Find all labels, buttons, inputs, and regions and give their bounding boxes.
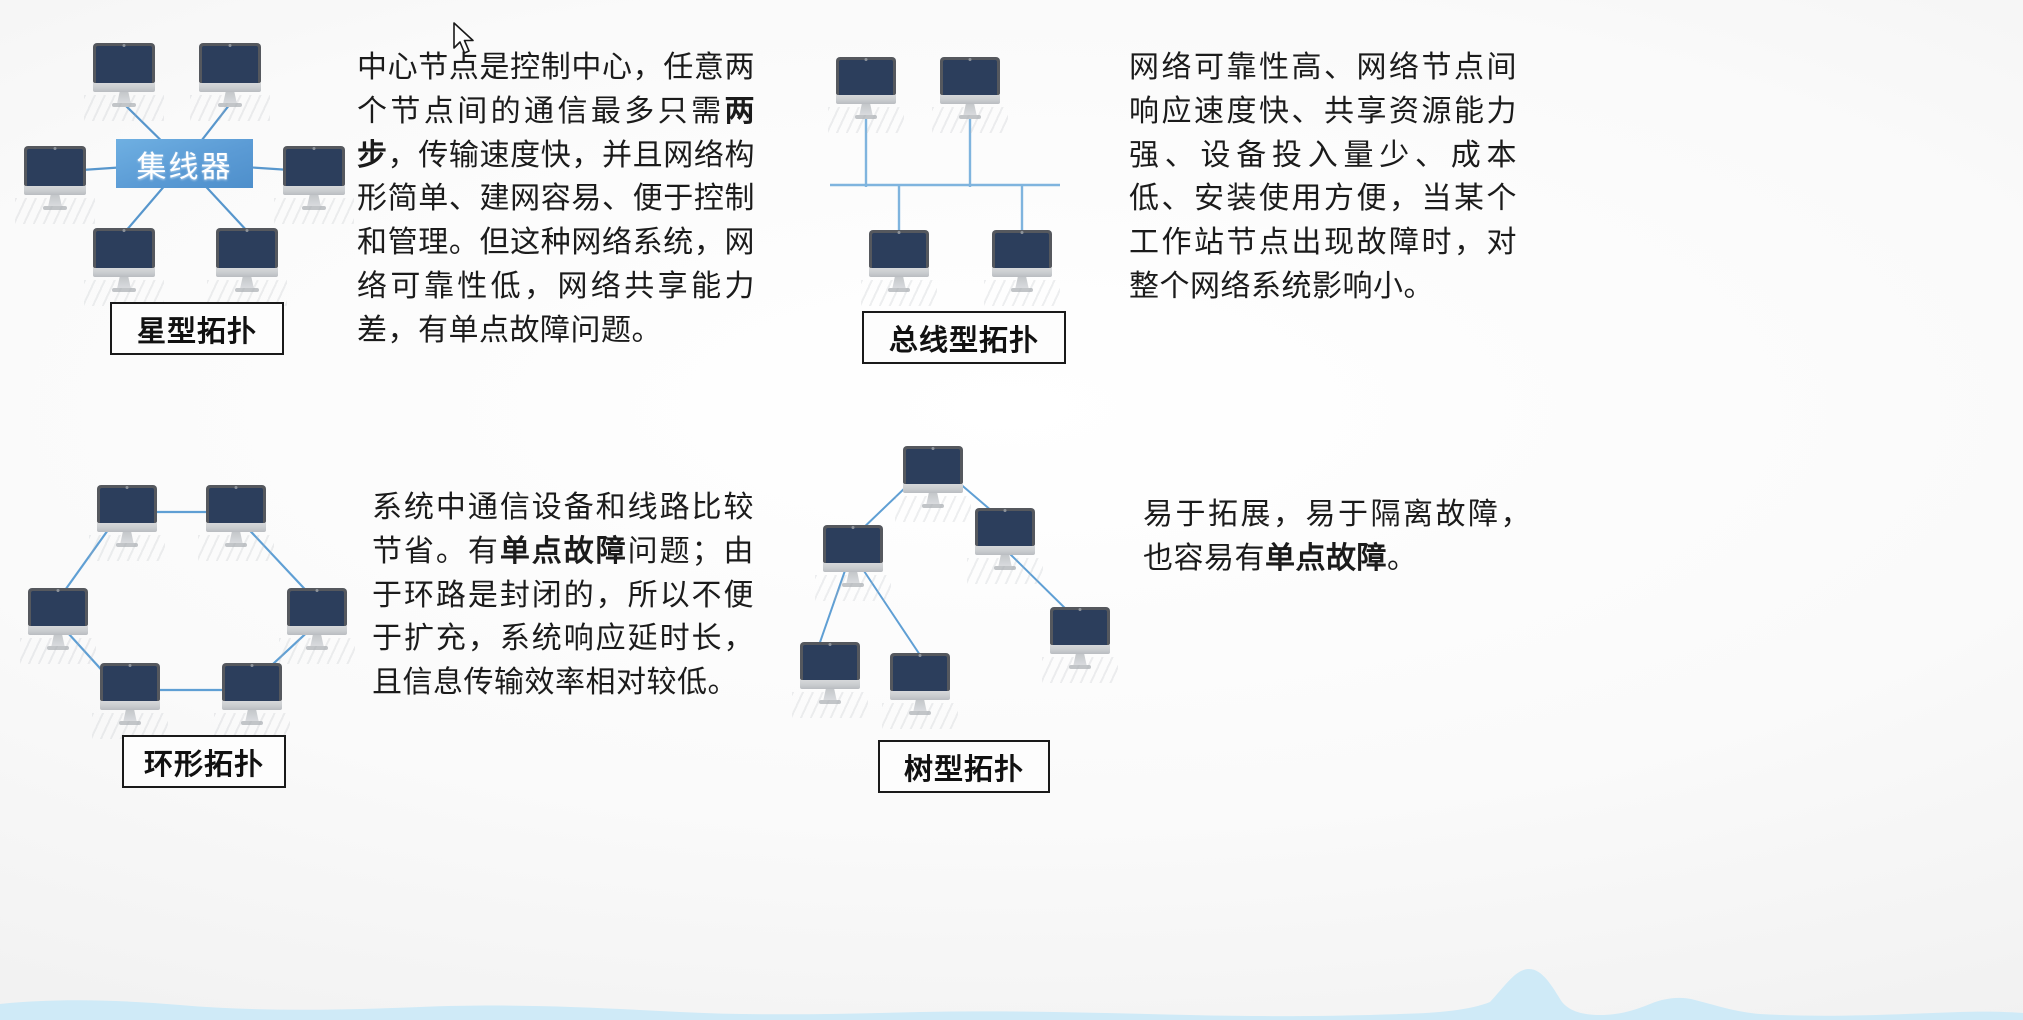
- webcam-dot: [313, 147, 316, 150]
- description-star-topology: 中心节点是控制中心，任意两个节点间的通信最多只需两步，传输速度快，并且网络构形简…: [357, 46, 755, 353]
- monitor-node: [836, 57, 896, 119]
- monitor-node: [206, 485, 266, 547]
- webcam-dot: [246, 229, 249, 232]
- webcam-dot: [919, 654, 922, 657]
- description-bus-topology: 网络可靠性高、网络节点间响应速度快、共享资源能力强、设备投入量少、成本低、安装使…: [1129, 46, 1517, 309]
- description-ring-topology: 系统中通信设备和线路比较节省。有单点故障问题；由于环路是封闭的，所以不便于扩充，…: [372, 486, 754, 705]
- monitor-node: [24, 146, 86, 210]
- caption-bus-topology: 总线型拓扑: [862, 311, 1066, 364]
- monitor-node: [992, 230, 1052, 292]
- monitor-node: [890, 653, 950, 715]
- emphasized-text: 单点故障: [500, 534, 628, 569]
- monitor-node: [940, 57, 1000, 119]
- webcam-dot: [316, 589, 319, 592]
- body-text: 。: [1387, 541, 1418, 576]
- monitor-node: [216, 228, 278, 292]
- monitor-node: [1050, 607, 1110, 669]
- body-text: 网络可靠性高、网络节点间响应速度快、共享资源能力强、设备投入量少、成本低、安装使…: [1129, 50, 1517, 304]
- webcam-dot: [865, 58, 868, 61]
- webcam-dot: [129, 664, 132, 667]
- emphasized-text: 单点故障: [1265, 541, 1387, 576]
- monitor-node: [287, 588, 347, 650]
- webcam-dot: [251, 664, 254, 667]
- monitor-node: [869, 230, 929, 292]
- caption-label: 星型拓扑: [137, 308, 257, 350]
- monitor-node: [97, 485, 157, 547]
- bottom-wave-decoration: [0, 960, 2023, 1020]
- body-text: 中心节点是控制中心，任意两个节点间的通信最多只需: [357, 50, 755, 129]
- webcam-dot: [123, 229, 126, 232]
- webcam-dot: [1004, 509, 1007, 512]
- monitor-node: [975, 508, 1035, 570]
- webcam-dot: [969, 58, 972, 61]
- slide-canvas: 集线器 星型拓扑 中心节点是控制中心，任意两个节点间的通信最多只需两步，传输速度…: [0, 0, 2023, 1020]
- webcam-dot: [54, 147, 57, 150]
- caption-tree-topology: 树型拓扑: [878, 740, 1050, 793]
- webcam-dot: [57, 589, 60, 592]
- webcam-dot: [235, 486, 238, 489]
- monitor-node: [283, 146, 345, 210]
- monitor-node: [823, 525, 883, 587]
- caption-label: 总线型拓扑: [889, 317, 1039, 359]
- monitor-node: [93, 228, 155, 292]
- description-tree-topology: 易于拓展，易于隔离故障，也容易有单点故障。: [1143, 493, 1531, 581]
- webcam-dot: [229, 44, 232, 47]
- monitor-node: [903, 446, 963, 508]
- monitor-node: [100, 663, 160, 725]
- webcam-dot: [1021, 231, 1024, 234]
- webcam-dot: [932, 447, 935, 450]
- caption-ring-topology: 环形拓扑: [122, 735, 286, 788]
- caption-label: 树型拓扑: [904, 746, 1024, 788]
- hub-label: 集线器: [137, 142, 233, 186]
- webcam-dot: [126, 486, 129, 489]
- monitor-node: [800, 642, 860, 704]
- monitor-node: [222, 663, 282, 725]
- monitor-node: [28, 588, 88, 650]
- webcam-dot: [1079, 608, 1082, 611]
- monitor-node: [199, 43, 261, 107]
- monitor-node: [93, 43, 155, 107]
- webcam-dot: [898, 231, 901, 234]
- webcam-dot: [852, 526, 855, 529]
- body-text: ，传输速度快，并且网络构形简单、建网容易、便于控制和管理。但这种网络系统，网络可…: [357, 138, 755, 348]
- caption-label: 环形拓扑: [144, 741, 264, 783]
- webcam-dot: [829, 643, 832, 646]
- webcam-dot: [123, 44, 126, 47]
- caption-star-topology: 星型拓扑: [110, 302, 284, 355]
- hub-node-box: 集线器: [116, 139, 253, 188]
